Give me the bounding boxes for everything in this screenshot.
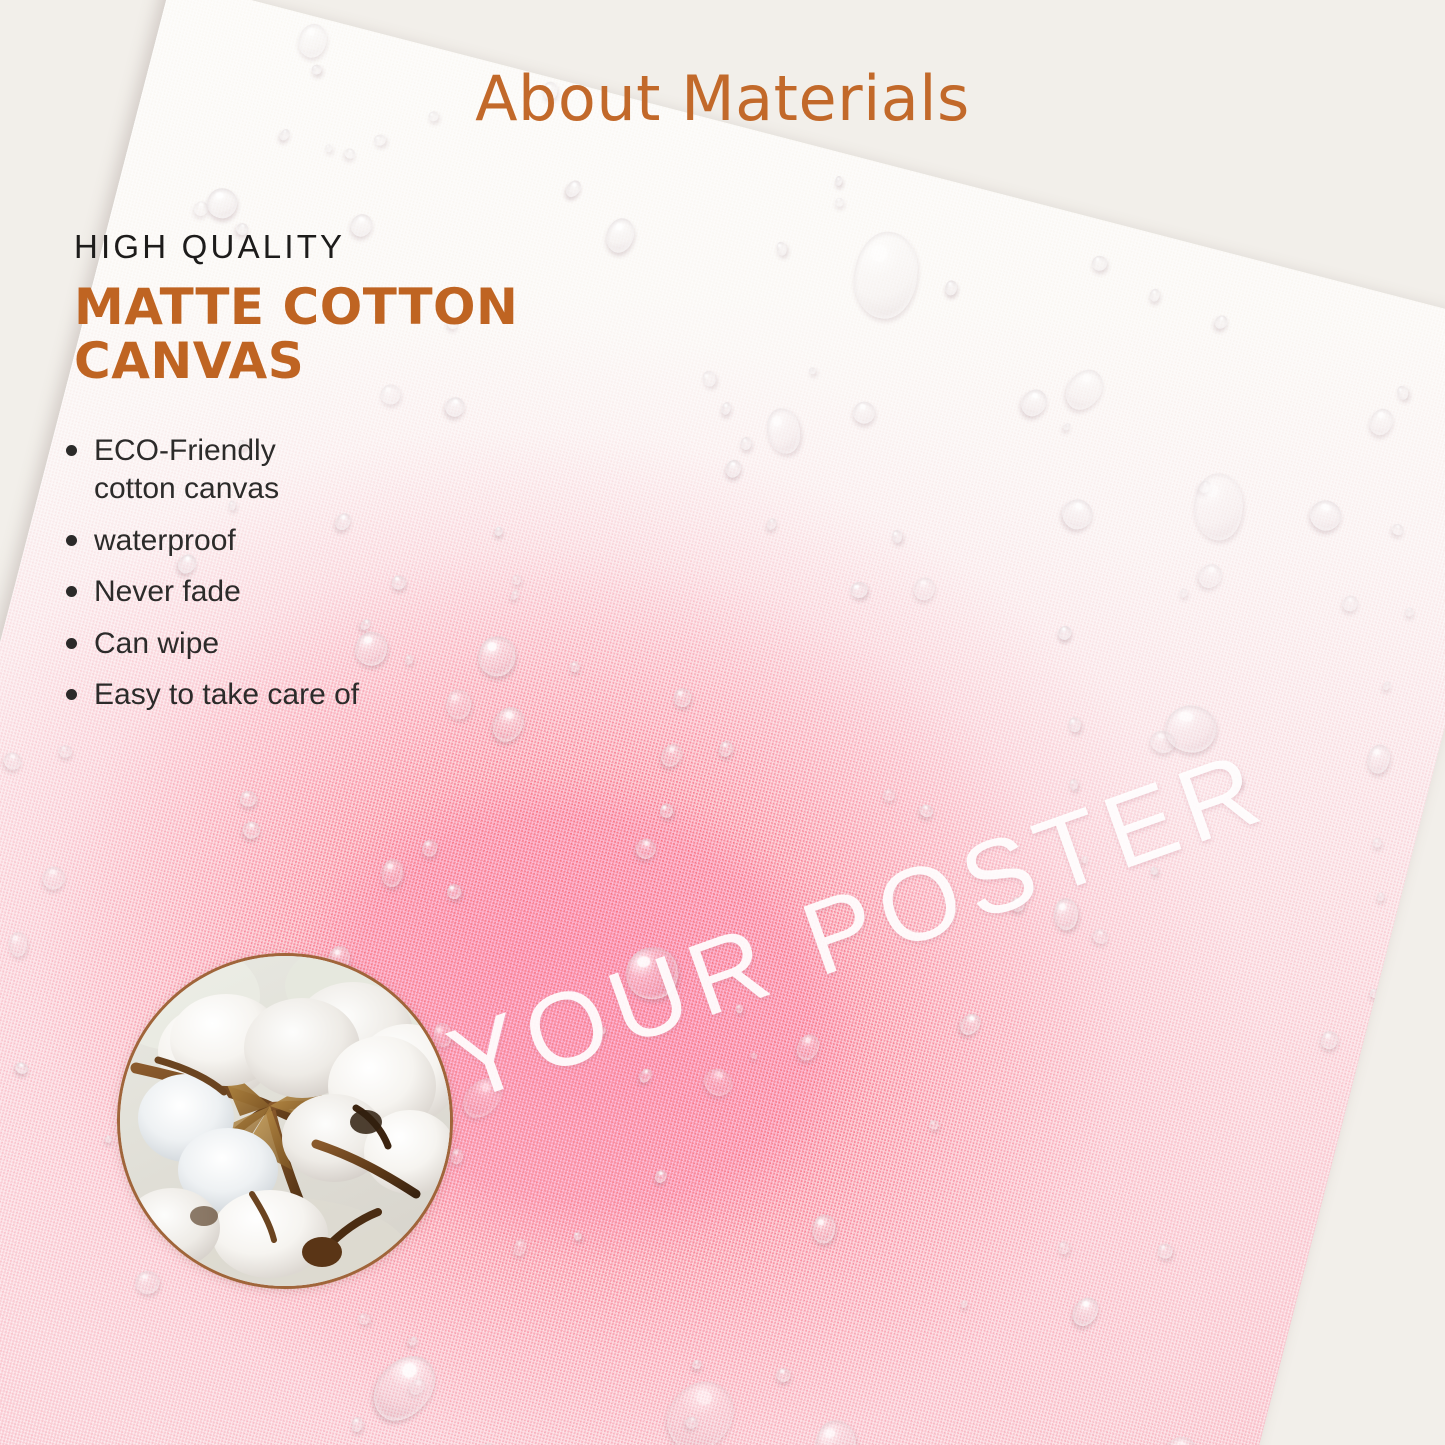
water-droplet bbox=[573, 1232, 581, 1241]
water-droplet bbox=[891, 530, 902, 544]
headline-line: CANVAS bbox=[74, 335, 574, 389]
water-droplet bbox=[850, 398, 877, 425]
water-droplet bbox=[58, 744, 73, 759]
water-droplet bbox=[1197, 478, 1214, 495]
water-droplet bbox=[1150, 866, 1158, 875]
water-droplet bbox=[1080, 855, 1090, 865]
water-droplet bbox=[447, 884, 461, 899]
water-droplet bbox=[775, 241, 787, 256]
water-droplet bbox=[809, 367, 817, 374]
water-droplet bbox=[1213, 313, 1231, 332]
water-droplet bbox=[380, 858, 405, 889]
water-droplet bbox=[191, 199, 211, 220]
cotton-photo-circle bbox=[117, 953, 453, 1289]
water-droplet bbox=[623, 945, 681, 1003]
water-droplet bbox=[1090, 926, 1111, 946]
water-droplet bbox=[717, 739, 733, 757]
feature-bullet-item: Never fade bbox=[62, 573, 359, 611]
water-droplet bbox=[811, 1213, 836, 1244]
water-droplet bbox=[512, 1238, 529, 1258]
water-droplet bbox=[1366, 406, 1397, 440]
left-copy-block: HIGH QUALITY MATTE COTTONCANVAS bbox=[74, 230, 574, 388]
water-droplet bbox=[637, 1067, 654, 1085]
water-droplet bbox=[1157, 1243, 1172, 1258]
water-droplet bbox=[1390, 521, 1406, 537]
water-droplet bbox=[354, 630, 390, 667]
water-droplet bbox=[1016, 385, 1052, 422]
water-droplet bbox=[683, 1414, 700, 1431]
water-droplet bbox=[1377, 892, 1386, 902]
water-droplet bbox=[455, 1071, 508, 1125]
water-droplet bbox=[1056, 493, 1098, 535]
feature-bullet-item: waterproof bbox=[62, 522, 359, 560]
water-droplet bbox=[723, 458, 743, 479]
water-droplet bbox=[359, 617, 374, 632]
water-droplet bbox=[749, 1051, 758, 1060]
water-droplet bbox=[763, 405, 805, 457]
water-droplet bbox=[720, 401, 732, 416]
water-droplet bbox=[479, 1440, 500, 1445]
water-droplet bbox=[1372, 837, 1383, 849]
water-droplet bbox=[1053, 897, 1079, 930]
water-droplet bbox=[765, 517, 778, 532]
water-droplet bbox=[240, 818, 264, 842]
water-droplet bbox=[699, 1063, 738, 1101]
water-droplet bbox=[13, 1060, 30, 1076]
water-droplet bbox=[1058, 362, 1110, 416]
water-droplet bbox=[512, 574, 521, 585]
kicker-label: HIGH QUALITY bbox=[74, 230, 574, 263]
water-droplet bbox=[1396, 384, 1410, 400]
water-droplet bbox=[9, 931, 27, 956]
water-droplet bbox=[1069, 779, 1078, 791]
page-title: About Materials bbox=[0, 62, 1445, 135]
water-droplet bbox=[674, 688, 692, 708]
water-droplet bbox=[792, 1031, 822, 1065]
water-droplet bbox=[487, 701, 530, 747]
water-droplet bbox=[204, 185, 240, 221]
feature-bullet-item: Can wipe bbox=[62, 625, 359, 663]
water-droplet bbox=[477, 635, 516, 677]
water-droplet bbox=[407, 1375, 429, 1398]
water-droplet bbox=[445, 689, 470, 719]
water-droplet bbox=[1067, 716, 1081, 732]
water-droplet bbox=[956, 1009, 984, 1038]
water-droplet bbox=[493, 526, 504, 537]
water-droplet bbox=[407, 1335, 420, 1348]
feature-bullet-list: ECO-Friendly cotton canvaswaterproofNeve… bbox=[62, 432, 359, 727]
water-droplet bbox=[834, 197, 844, 207]
water-droplet bbox=[1056, 624, 1072, 641]
headline-text: MATTE COTTONCANVAS bbox=[74, 281, 574, 388]
water-droplet bbox=[343, 147, 358, 161]
water-droplet bbox=[850, 582, 868, 599]
water-droplet bbox=[960, 1299, 968, 1309]
feature-bullet-item: Easy to take care of bbox=[62, 676, 359, 714]
water-droplet bbox=[1366, 743, 1393, 776]
water-droplet bbox=[351, 1416, 364, 1432]
water-droplet bbox=[739, 436, 751, 450]
water-droplet bbox=[135, 1270, 161, 1295]
water-droplet bbox=[1369, 988, 1379, 999]
water-droplet bbox=[657, 740, 685, 770]
water-droplet bbox=[325, 144, 333, 153]
infographic-root: YOUR POSTER About Materials HIGH QUALITY… bbox=[0, 0, 1445, 1445]
water-droplet bbox=[1232, 776, 1243, 789]
water-droplet bbox=[1062, 421, 1072, 431]
water-droplet bbox=[1068, 1293, 1103, 1330]
water-droplet bbox=[1179, 588, 1187, 598]
water-droplet bbox=[917, 802, 935, 819]
water-droplet bbox=[1340, 593, 1361, 614]
water-droplet bbox=[1319, 1029, 1340, 1051]
water-droplet bbox=[632, 835, 660, 863]
water-droplet bbox=[1163, 702, 1221, 756]
water-droplet bbox=[1092, 255, 1108, 270]
feature-bullet-item: ECO-Friendly cotton canvas bbox=[62, 432, 359, 509]
water-droplet bbox=[1381, 680, 1391, 691]
water-droplet bbox=[654, 1368, 746, 1445]
water-droplet bbox=[510, 589, 521, 601]
water-droplet bbox=[441, 394, 468, 421]
water-droplet bbox=[775, 1366, 792, 1383]
water-droplet bbox=[691, 1358, 703, 1370]
water-droplet bbox=[882, 787, 897, 802]
water-droplet bbox=[1059, 1241, 1070, 1254]
headline-line: MATTE COTTON bbox=[74, 281, 574, 335]
water-droplet bbox=[736, 1004, 744, 1013]
water-droplet bbox=[944, 280, 958, 297]
water-droplet bbox=[1304, 495, 1346, 537]
water-droplet bbox=[563, 177, 584, 199]
water-droplet bbox=[1148, 288, 1161, 303]
water-droplet bbox=[1155, 1430, 1204, 1445]
water-droplet bbox=[1193, 473, 1243, 541]
water-droplet bbox=[653, 1168, 669, 1184]
water-droplet bbox=[358, 1313, 371, 1325]
water-droplet bbox=[1148, 727, 1179, 756]
water-droplet bbox=[1, 748, 25, 772]
water-droplet bbox=[406, 655, 414, 666]
water-droplet bbox=[929, 1120, 940, 1130]
water-droplet bbox=[597, 1027, 606, 1036]
water-droplet bbox=[602, 215, 638, 256]
water-droplet bbox=[835, 176, 843, 186]
water-droplet bbox=[296, 21, 331, 60]
water-droplet bbox=[660, 803, 673, 818]
water-droplet bbox=[390, 574, 406, 590]
water-droplet bbox=[1009, 895, 1027, 913]
cotton-boll-illustration bbox=[120, 956, 450, 1286]
water-droplet bbox=[239, 789, 259, 807]
water-droplet bbox=[570, 661, 581, 673]
water-droplet bbox=[361, 1344, 446, 1432]
water-droplet bbox=[1194, 559, 1227, 593]
water-droplet bbox=[1404, 607, 1415, 618]
water-droplet bbox=[814, 1420, 857, 1445]
water-droplet bbox=[911, 574, 938, 602]
water-droplet bbox=[701, 369, 718, 388]
water-droplet bbox=[39, 864, 68, 894]
water-droplet bbox=[421, 839, 438, 858]
water-droplet bbox=[450, 1147, 465, 1165]
water-droplet bbox=[849, 228, 920, 321]
water-droplet bbox=[104, 1134, 114, 1144]
